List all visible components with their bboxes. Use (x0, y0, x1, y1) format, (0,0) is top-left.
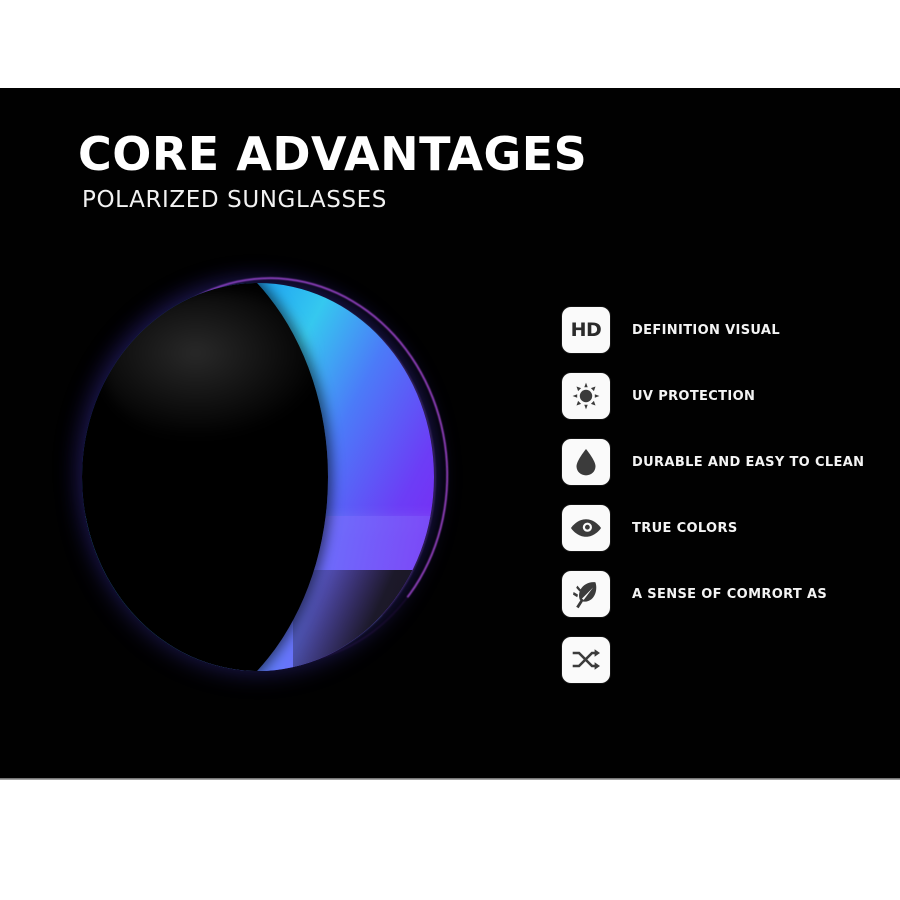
water-drop-icon (562, 439, 610, 485)
feather-icon (562, 571, 610, 617)
feature-label-durable-easy-to-clean: DURABLE AND EASY TO CLEAN (632, 455, 864, 470)
feature-label-true-colors: TRUE COLORS (632, 521, 738, 536)
feature-row-uv-protection: UV PROTECTION (562, 363, 882, 429)
black-banner-panel: CORE ADVANTAGES POLARIZED SUNGLASSES HD (0, 88, 900, 780)
lens-specular-sheen (103, 291, 335, 446)
lens-dark-wedge (293, 570, 434, 671)
feature-list: HD DEFINITION VISUAL (562, 297, 882, 693)
feature-label-uv-protection: UV PROTECTION (632, 389, 755, 404)
lens-disc (82, 283, 434, 671)
page-subtitle: POLARIZED SUNGLASSES (82, 187, 587, 213)
polarized-lens-image (60, 263, 460, 703)
feature-row-true-colors: TRUE COLORS (562, 495, 882, 561)
panel-bottom-divider (0, 778, 900, 780)
sun-icon (562, 373, 610, 419)
feature-row-shuffle (562, 627, 882, 693)
feature-row-durable-easy-to-clean: DURABLE AND EASY TO CLEAN (562, 429, 882, 495)
feature-row-definition-visual: HD DEFINITION VISUAL (562, 297, 882, 363)
feature-row-sense-of-comfort: A SENSE OF COMRORT AS (562, 561, 882, 627)
hd-icon-text: HD (571, 319, 602, 341)
page-title: CORE ADVANTAGES (78, 129, 587, 179)
feature-label-definition-visual: DEFINITION VISUAL (632, 323, 780, 338)
feature-label-sense-of-comfort: A SENSE OF COMRORT AS (632, 587, 827, 602)
shuffle-icon (562, 637, 610, 683)
poster-canvas: CORE ADVANTAGES POLARIZED SUNGLASSES HD (0, 0, 900, 900)
heading-block: CORE ADVANTAGES POLARIZED SUNGLASSES (78, 129, 587, 213)
eye-icon (562, 505, 610, 551)
hd-icon: HD (562, 307, 610, 353)
